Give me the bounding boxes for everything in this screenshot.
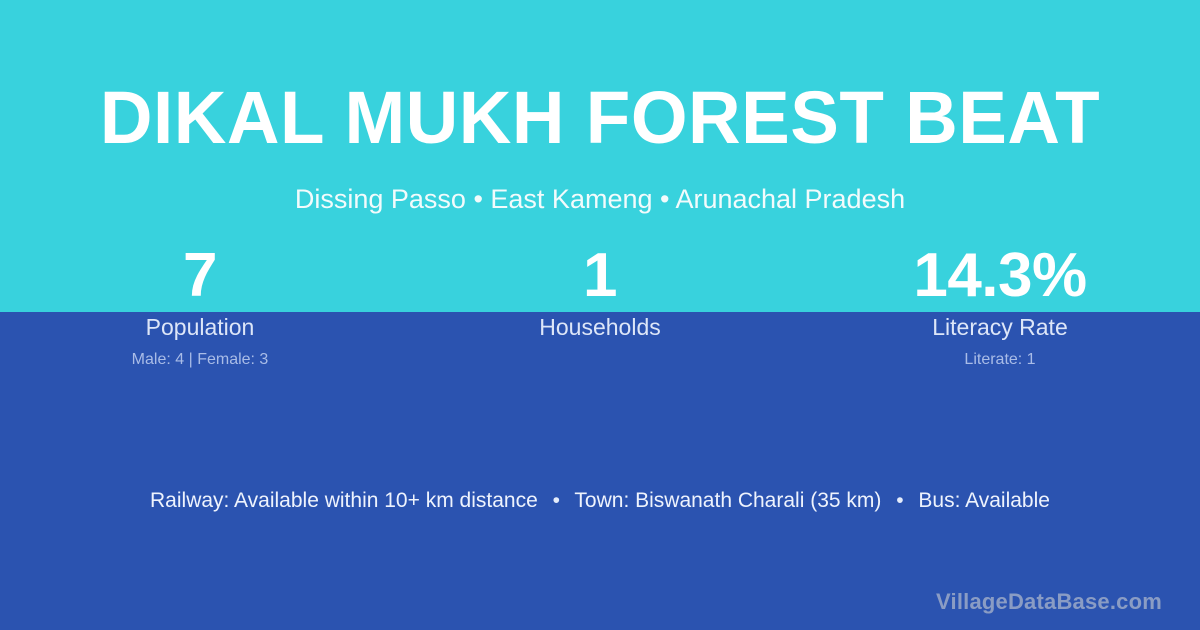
stat-households: 1 Households	[400, 240, 800, 371]
village-info-card: DIKAL MUKH FOREST BEAT Dissing Passo • E…	[0, 0, 1200, 630]
amenity-town: Town: Biswanath Charali (35 km)	[574, 489, 881, 512]
amenity-railway: Railway: Available within 10+ km distanc…	[150, 489, 538, 512]
page-title: DIKAL MUKH FOREST BEAT	[9, 78, 1191, 158]
population-breakdown: Male: 4 | Female: 3	[0, 349, 400, 371]
households-label: Households	[400, 312, 800, 342]
amenity-separator-1: •	[544, 486, 569, 516]
literacy-rate-value: 14.3%	[800, 240, 1200, 312]
site-watermark: VillageDataBase.com	[936, 588, 1162, 616]
amenity-bus: Bus: Available	[918, 489, 1050, 512]
population-label: Population	[0, 312, 400, 342]
amenities-summary: Railway: Available within 10+ km distanc…	[0, 486, 1200, 516]
literacy-rate-breakdown: Literate: 1	[800, 349, 1200, 371]
amenity-separator-2: •	[887, 486, 912, 516]
stats-row: 7 Population Male: 4 | Female: 3 1 House…	[0, 240, 1200, 371]
location-breadcrumb: Dissing Passo • East Kameng • Arunachal …	[0, 182, 1200, 216]
stat-population: 7 Population Male: 4 | Female: 3	[0, 240, 400, 371]
households-value: 1	[400, 240, 800, 312]
population-value: 7	[0, 240, 400, 312]
stat-literacy-rate: 14.3% Literacy Rate Literate: 1	[800, 240, 1200, 371]
literacy-rate-label: Literacy Rate	[800, 312, 1200, 342]
